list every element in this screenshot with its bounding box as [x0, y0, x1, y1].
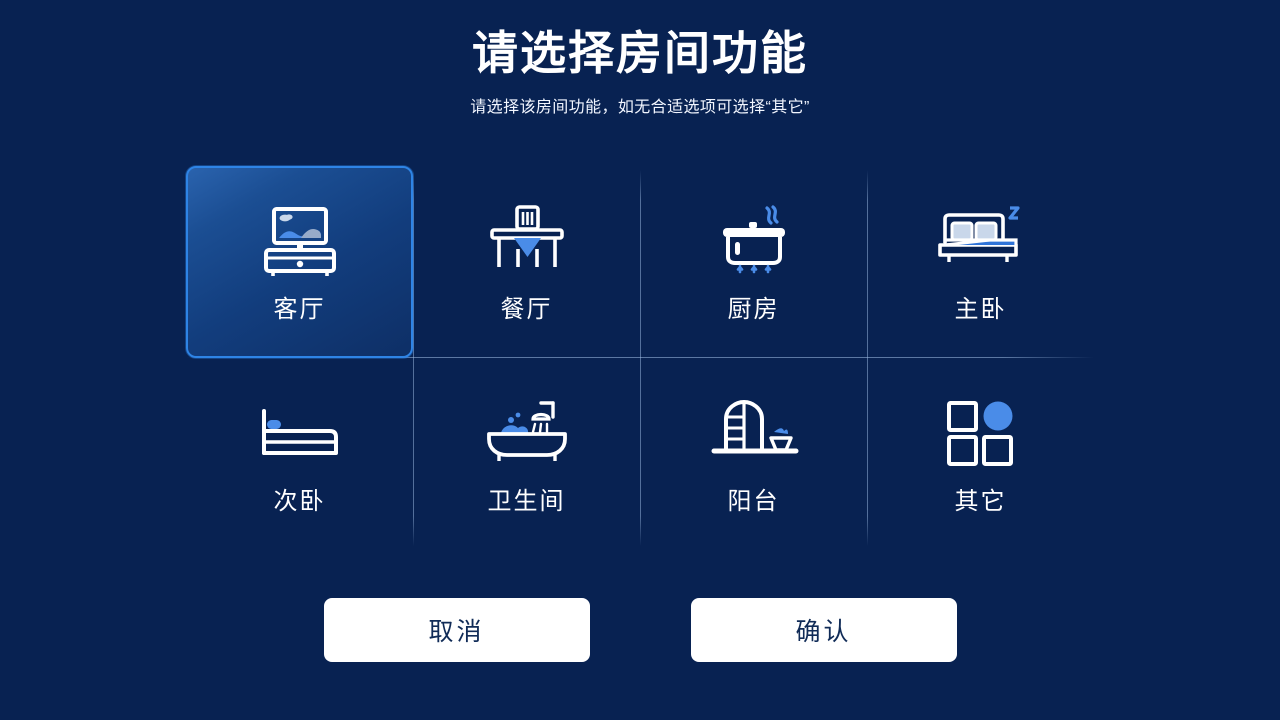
room-option-living-room[interactable]: 客厅 [186, 166, 413, 358]
room-option-label: 阳台 [728, 490, 780, 514]
room-option-second-bedroom[interactable]: 次卧 [186, 358, 413, 550]
tv-cabinet-icon [252, 202, 348, 280]
room-option-kitchen[interactable]: 厨房 [640, 166, 867, 358]
room-option-other[interactable]: 其它 [867, 358, 1094, 550]
room-option-label: 卫生间 [488, 490, 566, 514]
single-bed-icon [252, 394, 348, 472]
room-option-label: 厨房 [728, 298, 780, 322]
cancel-button[interactable]: 取消 [324, 598, 590, 662]
room-option-label: 主卧 [955, 298, 1007, 322]
confirm-button[interactable]: 确认 [691, 598, 957, 662]
grid-squares-icon [933, 394, 1029, 472]
page-title: 请选择房间功能 [0, 26, 1280, 80]
room-option-bathroom[interactable]: 卫生间 [413, 358, 640, 550]
room-option-label: 其它 [955, 490, 1007, 514]
room-type-grid: 客厅 餐厅 [186, 166, 1094, 550]
room-option-master-bedroom[interactable]: 主卧 [867, 166, 1094, 358]
room-option-dining-room[interactable]: 餐厅 [413, 166, 640, 358]
dialog-footer: 取消 确认 [0, 598, 1280, 662]
room-type-grid-wrapper: 客厅 餐厅 [186, 166, 1094, 550]
room-option-balcony[interactable]: 阳台 [640, 358, 867, 550]
room-option-label: 次卧 [274, 490, 326, 514]
balcony-plant-icon [706, 394, 802, 472]
page-subtitle: 请选择该房间功能，如无合适选项可选择“其它” [0, 93, 1280, 117]
bathtub-shower-icon [479, 394, 575, 472]
double-bed-icon [933, 202, 1029, 280]
dining-table-icon [479, 202, 575, 280]
cooking-pot-icon [706, 202, 802, 280]
room-option-label: 客厅 [274, 298, 326, 322]
dialog-header: 请选择房间功能 请选择该房间功能，如无合适选项可选择“其它” [0, 0, 1280, 117]
room-option-label: 餐厅 [501, 298, 553, 322]
